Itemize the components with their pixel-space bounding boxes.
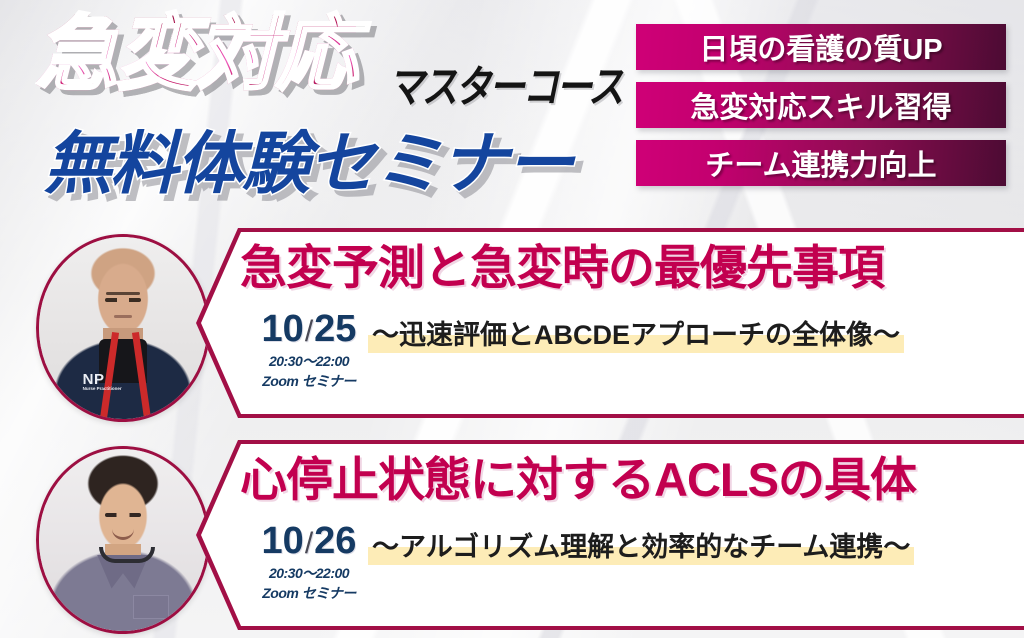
session-title: 心停止状態に対するACLSの具体 <box>240 456 916 503</box>
photo-mouth <box>114 315 132 318</box>
stethoscope-icon <box>99 547 155 563</box>
session-panel-content: 急変予測と急変時の最優先事項 10/25 20:30〜22:00 Zoom セミ… <box>196 228 1024 418</box>
session-panel-content: 心停止状態に対するACLSの具体 10/26 20:30〜22:00 Zoom … <box>196 440 1024 630</box>
session-day: 25 <box>314 308 356 350</box>
photo-eyes <box>105 298 141 302</box>
photo-pocket <box>133 595 169 619</box>
photo-brow <box>106 292 140 295</box>
np-sub-text: Nurse Practitioner <box>83 387 122 392</box>
session-date: 10/26 <box>240 522 378 560</box>
session-date: 10/25 <box>240 310 378 348</box>
scrub-np-label: NP Nurse Practitioner <box>83 372 122 392</box>
benefit-badge: 日頃の看護の質UP <box>636 24 1006 70</box>
date-separator: / <box>304 527 314 560</box>
benefit-badge: 急変対応スキル習得 <box>636 82 1006 128</box>
banner-header: 急変対応 マスターコース 無料体験セミナー 日頃の看護の質UP 急変対応スキル習… <box>0 0 1024 222</box>
presenter-photo: NP Nurse Practitioner <box>39 237 207 419</box>
page-title: 急変対応 <box>36 14 356 96</box>
session-row: NP Nurse Practitioner 急変予測と急変時の最優先事項 10/… <box>0 228 1024 426</box>
session-month: 10 <box>262 520 304 562</box>
session-month: 10 <box>262 308 304 350</box>
session-title: 急変予測と急変時の最優先事項 <box>240 244 884 291</box>
avatar: NP Nurse Practitioner <box>36 234 210 422</box>
photo-eyes <box>105 513 141 517</box>
session-subtitle: 〜迅速評価とABCDEアプローチの全体像〜 <box>368 320 904 353</box>
session-day: 26 <box>314 520 356 562</box>
session-subtitle: 〜アルゴリズム理解と効率的なチーム連携〜 <box>368 532 914 565</box>
benefit-badge-list: 日頃の看護の質UP 急変対応スキル習得 チーム連携力向上 <box>636 24 1006 186</box>
session-time: 20:30〜22:00 <box>240 565 378 583</box>
session-platform: Zoom セミナー <box>240 373 378 391</box>
session-platform: Zoom セミナー <box>240 585 378 603</box>
session-date-block: 10/25 20:30〜22:00 Zoom セミナー <box>240 310 378 390</box>
session-time: 20:30〜22:00 <box>240 353 378 371</box>
session-date-block: 10/26 20:30〜22:00 Zoom セミナー <box>240 522 378 602</box>
avatar <box>36 446 210 634</box>
presenter-photo <box>39 449 207 631</box>
photo-mouth <box>112 529 134 540</box>
subtitle-free-seminar: 無料体験セミナー <box>44 130 572 198</box>
seminar-banner: 急変対応 マスターコース 無料体験セミナー 日頃の看護の質UP 急変対応スキル習… <box>0 0 1024 638</box>
benefit-badge: チーム連携力向上 <box>636 140 1006 186</box>
session-row: 心停止状態に対するACLSの具体 10/26 20:30〜22:00 Zoom … <box>0 440 1024 638</box>
date-separator: / <box>304 315 314 348</box>
course-label: マスターコース <box>388 66 622 110</box>
